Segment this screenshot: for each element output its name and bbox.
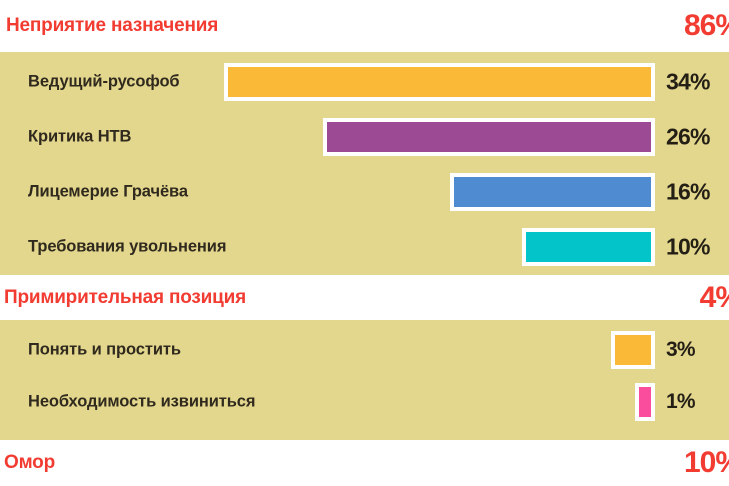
row-label: Критика НТВ bbox=[28, 128, 131, 147]
section-title-3: Омор bbox=[4, 452, 55, 474]
row-bar-cyan bbox=[522, 228, 655, 266]
row-bar-blue bbox=[450, 173, 655, 211]
section-panel-1: Ведущий-русофоб 34% Критика НТВ 26% Лице… bbox=[0, 52, 729, 275]
row-label: Лицемерие Грачёва bbox=[28, 183, 188, 202]
row-label: Понять и простить bbox=[28, 341, 181, 360]
section-header-2: Примирительная позиция 4% bbox=[0, 275, 729, 320]
row-value: 1% bbox=[666, 390, 695, 414]
infographic-chart: Неприятие назначения 86% Ведущий-русофоб… bbox=[0, 0, 729, 486]
section-header-3: Омор 10% bbox=[0, 440, 729, 486]
row-value: 34% bbox=[666, 69, 710, 96]
row-bar-purple bbox=[323, 118, 655, 156]
row-bar-orange bbox=[224, 63, 655, 101]
row-bar-orange-small bbox=[611, 331, 655, 369]
section-value-3: 10% bbox=[684, 446, 729, 480]
section-panel-2: Понять и простить 3% Необходимость извин… bbox=[0, 320, 729, 440]
section-value-1: 86% bbox=[684, 9, 729, 43]
table-row: Требования увольнения 10% bbox=[0, 225, 729, 269]
table-row: Необходимость извиниться 1% bbox=[0, 380, 729, 424]
row-value: 16% bbox=[666, 179, 710, 206]
table-row: Критика НТВ 26% bbox=[0, 115, 729, 159]
section-title-2: Примирительная позиция bbox=[4, 287, 246, 309]
row-label: Необходимость извиниться bbox=[28, 393, 255, 412]
row-value: 3% bbox=[666, 338, 695, 362]
table-row: Лицемерие Грачёва 16% bbox=[0, 170, 729, 214]
table-row: Понять и простить 3% bbox=[0, 328, 729, 372]
section-value-2: 4% bbox=[700, 281, 729, 315]
table-row: Ведущий-русофоб 34% bbox=[0, 60, 729, 104]
row-label: Ведущий-русофоб bbox=[28, 73, 180, 92]
section-header-1: Неприятие назначения 86% bbox=[0, 0, 729, 52]
row-bar-pink-small bbox=[635, 383, 655, 421]
row-label: Требования увольнения bbox=[28, 238, 226, 257]
row-value: 10% bbox=[666, 234, 710, 261]
row-value: 26% bbox=[666, 124, 710, 151]
section-title-1: Неприятие назначения bbox=[6, 15, 218, 37]
